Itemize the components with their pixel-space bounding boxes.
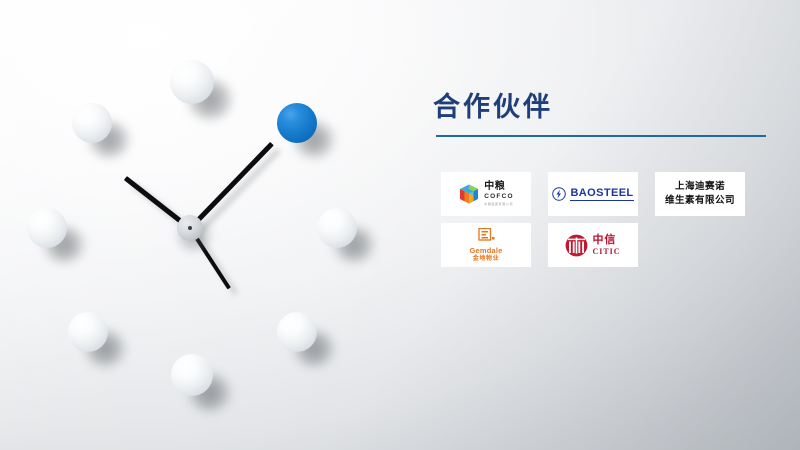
title-underline bbox=[436, 135, 766, 137]
hour-marker-4-ball bbox=[277, 312, 317, 352]
hour-marker-1-ball bbox=[277, 103, 317, 143]
partner-card-gemdale[interactable]: Gemdale 金地物业 bbox=[441, 223, 531, 267]
hour-marker-3-ball bbox=[317, 208, 357, 248]
cofco-name-en: COFCO bbox=[484, 194, 513, 201]
baosteel-circle-icon bbox=[552, 187, 566, 201]
baosteel-name-en: BAOSTEEL bbox=[570, 187, 633, 201]
desano-name-line1: 上海迪赛诺 bbox=[665, 180, 735, 194]
hour-marker-12 bbox=[170, 60, 214, 104]
hour-marker-3 bbox=[317, 208, 357, 248]
partner-logo-grid: 中粮 COFCO 中粮集团有限公司 BAOSTEEL bbox=[441, 172, 773, 267]
citic-name-en: CITIC bbox=[592, 248, 620, 256]
clock-hub-pin bbox=[188, 226, 192, 230]
partner-card-citic[interactable]: 中信 CITIC bbox=[548, 223, 638, 267]
gemdale-square-icon bbox=[478, 228, 495, 244]
hour-marker-12-ball bbox=[170, 60, 214, 104]
partner-card-baosteel[interactable]: BAOSTEEL bbox=[548, 172, 638, 216]
minute-hand bbox=[188, 141, 274, 229]
slide-canvas: 合作伙伴 中粮 COFCO bbox=[0, 0, 800, 450]
gemdale-name-en: Gemdale bbox=[469, 247, 502, 255]
gemdale-name-cn: 金地物业 bbox=[473, 256, 499, 262]
hour-marker-6 bbox=[171, 354, 213, 396]
desano-name-line2: 维生素有限公司 bbox=[665, 194, 735, 208]
hour-marker-6-ball bbox=[171, 354, 213, 396]
hour-marker-9-ball bbox=[27, 208, 67, 248]
citic-emblem-icon bbox=[565, 234, 588, 257]
citic-name-cn: 中信 bbox=[592, 235, 616, 246]
hour-marker-1 bbox=[277, 103, 317, 143]
partner-card-desano[interactable]: 上海迪赛诺 维生素有限公司 bbox=[655, 172, 745, 216]
cofco-tagline: 中粮集团有限公司 bbox=[484, 203, 513, 206]
hour-marker-4 bbox=[277, 312, 317, 352]
hour-marker-8-ball bbox=[68, 312, 108, 352]
wall-clock bbox=[0, 0, 400, 450]
hour-marker-9 bbox=[27, 208, 67, 248]
minute-hand-shadow bbox=[195, 147, 281, 235]
hour-marker-10 bbox=[72, 103, 112, 143]
cofco-name-cn: 中粮 bbox=[484, 182, 505, 192]
hour-marker-8 bbox=[68, 312, 108, 352]
cofco-cube-icon bbox=[458, 183, 480, 205]
partner-card-cofco[interactable]: 中粮 COFCO 中粮集团有限公司 bbox=[441, 172, 531, 216]
partners-section: 合作伙伴 中粮 COFCO bbox=[433, 90, 773, 310]
page-title: 合作伙伴 bbox=[433, 90, 773, 124]
hour-marker-10-ball bbox=[72, 103, 112, 143]
